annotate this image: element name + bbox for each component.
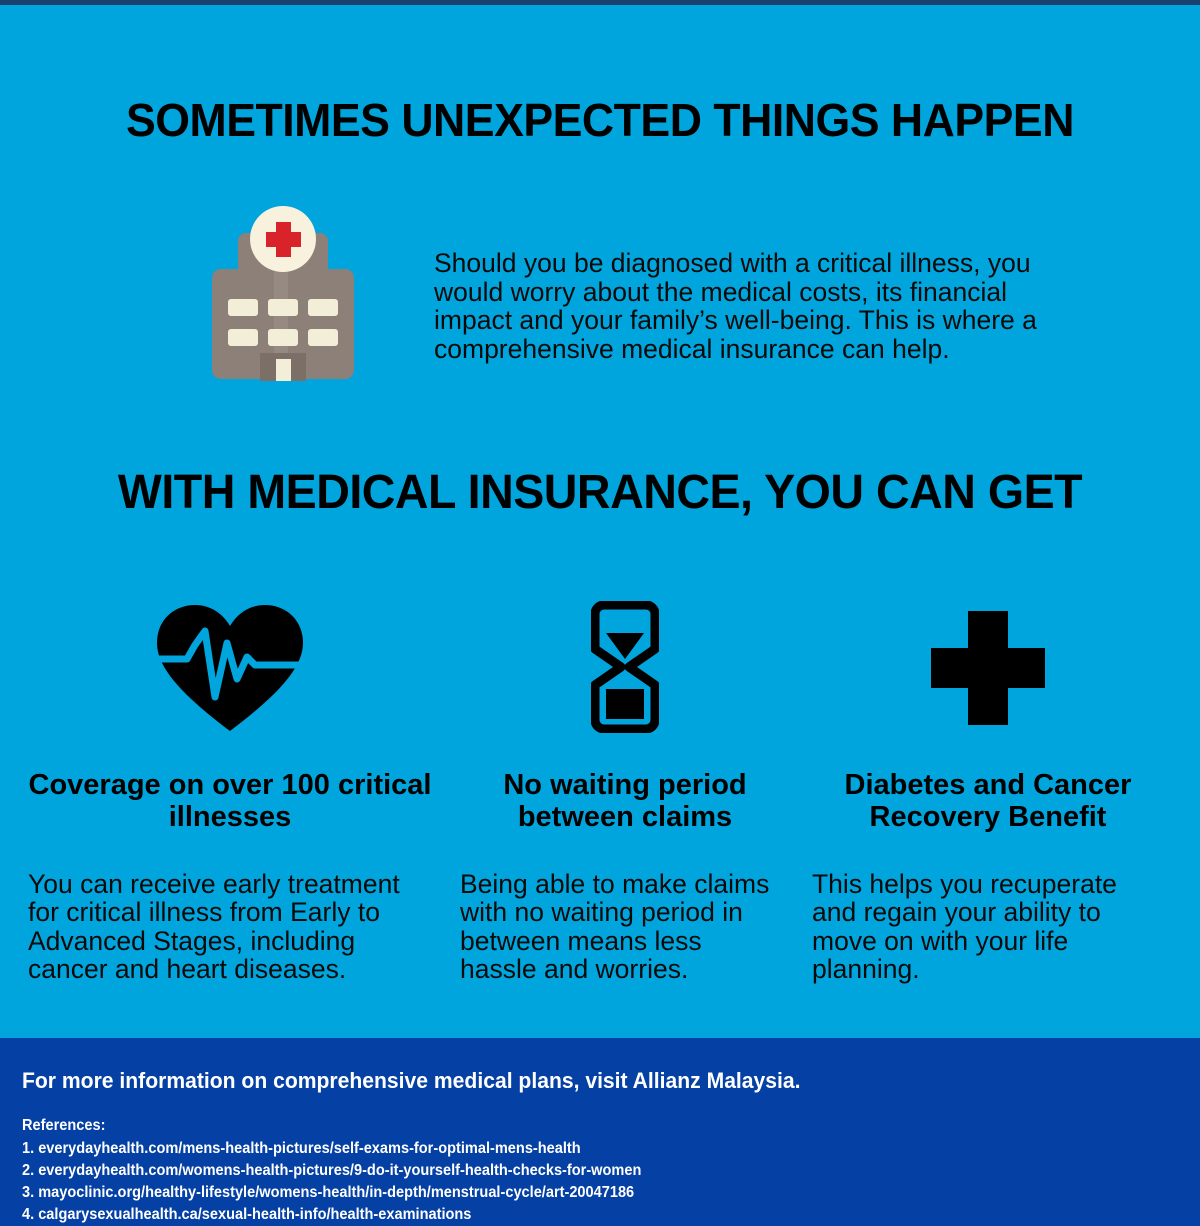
benefit-column-waiting: No waiting period between claims Being a… bbox=[460, 597, 790, 1017]
hourglass-icon bbox=[460, 597, 790, 737]
benefits-row: Coverage on over 100 critical illnesses … bbox=[0, 597, 1200, 1017]
heartbeat-heart-icon bbox=[28, 597, 432, 737]
reference-item: 1. everydayhealth.com/mens-health-pictur… bbox=[22, 1138, 641, 1160]
reference-item: 2. everydayhealth.com/womens-health-pict… bbox=[22, 1160, 641, 1182]
section-2-heading: WITH MEDICAL INSURANCE, YOU CAN GET bbox=[18, 465, 1182, 520]
benefit-body: This helps you recuperate and regain you… bbox=[812, 870, 1152, 983]
intro-paragraph: Should you be diagnosed with a critical … bbox=[434, 249, 1064, 363]
benefit-title: Diabetes and Cancer Recovery Benefit bbox=[812, 769, 1164, 834]
intro-block: Should you be diagnosed with a critical … bbox=[0, 201, 1200, 391]
section-1-heading: SOMETIMES UNEXPECTED THINGS HAPPEN bbox=[18, 93, 1182, 147]
references-label: References: bbox=[22, 1117, 105, 1135]
reference-item: 4. calgarysexualhealth.ca/sexual-health-… bbox=[22, 1204, 641, 1226]
reference-item: 3. mayoclinic.org/healthy-lifestyle/wome… bbox=[22, 1182, 641, 1204]
benefit-column-coverage: Coverage on over 100 critical illnesses … bbox=[28, 597, 432, 1017]
benefit-body: You can receive early treatment for crit… bbox=[28, 870, 426, 983]
medical-cross-icon bbox=[812, 597, 1164, 737]
benefit-body: Being able to make claims with no waitin… bbox=[460, 870, 782, 983]
footer-headline: For more information on comprehensive me… bbox=[22, 1068, 801, 1094]
benefit-title: Coverage on over 100 critical illnesses bbox=[28, 769, 432, 834]
hospital-icon bbox=[208, 201, 358, 381]
benefit-column-recovery: Diabetes and Cancer Recovery Benefit Thi… bbox=[812, 597, 1164, 1017]
benefit-title: No waiting period between claims bbox=[460, 769, 790, 834]
references-list: 1. everydayhealth.com/mens-health-pictur… bbox=[22, 1138, 681, 1226]
footer-bar: For more information on comprehensive me… bbox=[0, 1038, 1200, 1226]
infographic-page: SOMETIMES UNEXPECTED THINGS HAPPEN bbox=[0, 5, 1200, 1221]
